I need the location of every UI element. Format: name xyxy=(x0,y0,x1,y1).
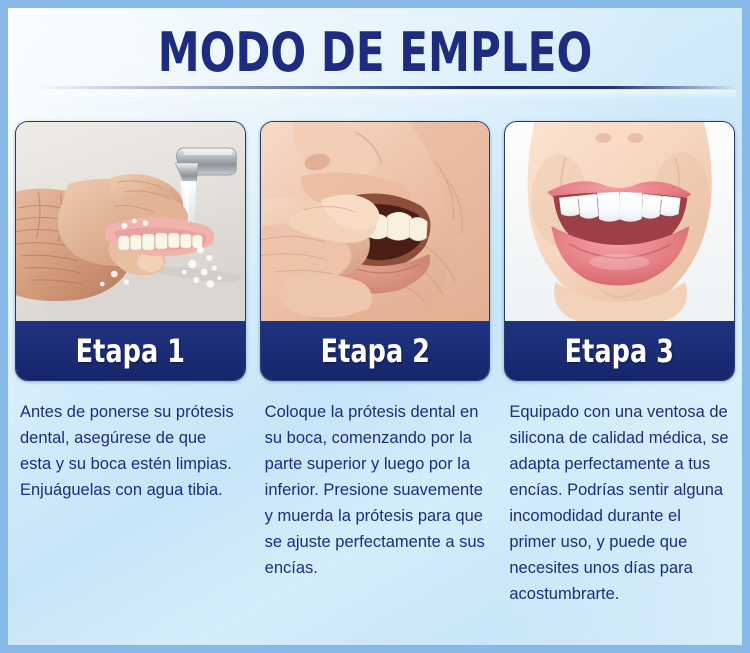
step-photo-3 xyxy=(505,122,734,321)
step-banner-3: Etapa 3 xyxy=(505,321,734,380)
title-divider-glow xyxy=(38,90,736,100)
panel-background: MODO DE EMPLEO xyxy=(8,8,742,645)
step-banner-1: Etapa 1 xyxy=(16,321,245,380)
step-column-1: Etapa 1 Antes de ponerse su prótesis den… xyxy=(8,121,253,645)
step-card-2: Etapa 2 xyxy=(260,121,491,381)
step-card-1: Etapa 1 xyxy=(15,121,246,381)
step-description-2: Coloque la prótesis dental en su boca, c… xyxy=(260,399,491,581)
instruction-infographic: MODO DE EMPLEO xyxy=(0,0,750,653)
step-card-3: Etapa 3 xyxy=(504,121,735,381)
step-description-3: Equipado con una ventosa de silicona de … xyxy=(504,399,735,607)
header: MODO DE EMPLEO xyxy=(8,8,742,100)
step-description-1: Antes de ponerse su prótesis dental, ase… xyxy=(15,399,246,503)
smile-white-teeth-icon xyxy=(505,122,734,321)
mouth-inserting-denture-icon xyxy=(261,122,490,321)
denture-washing-icon xyxy=(16,122,245,321)
step-banner-2: Etapa 2 xyxy=(261,321,490,380)
step-column-3: Etapa 3 Equipado con una ventosa de sili… xyxy=(497,121,742,645)
title-divider xyxy=(38,86,736,89)
step-column-2: Etapa 2 Coloque la prótesis dental en su… xyxy=(253,121,498,645)
steps-container: Etapa 1 Antes de ponerse su prótesis den… xyxy=(8,121,742,645)
page-title: MODO DE EMPLEO xyxy=(89,26,662,80)
step-photo-2 xyxy=(261,122,490,321)
step-banner-label-2: Etapa 2 xyxy=(320,335,429,367)
step-photo-1 xyxy=(16,122,245,321)
step-banner-label-3: Etapa 3 xyxy=(565,335,674,367)
step-banner-label-1: Etapa 1 xyxy=(76,335,185,367)
